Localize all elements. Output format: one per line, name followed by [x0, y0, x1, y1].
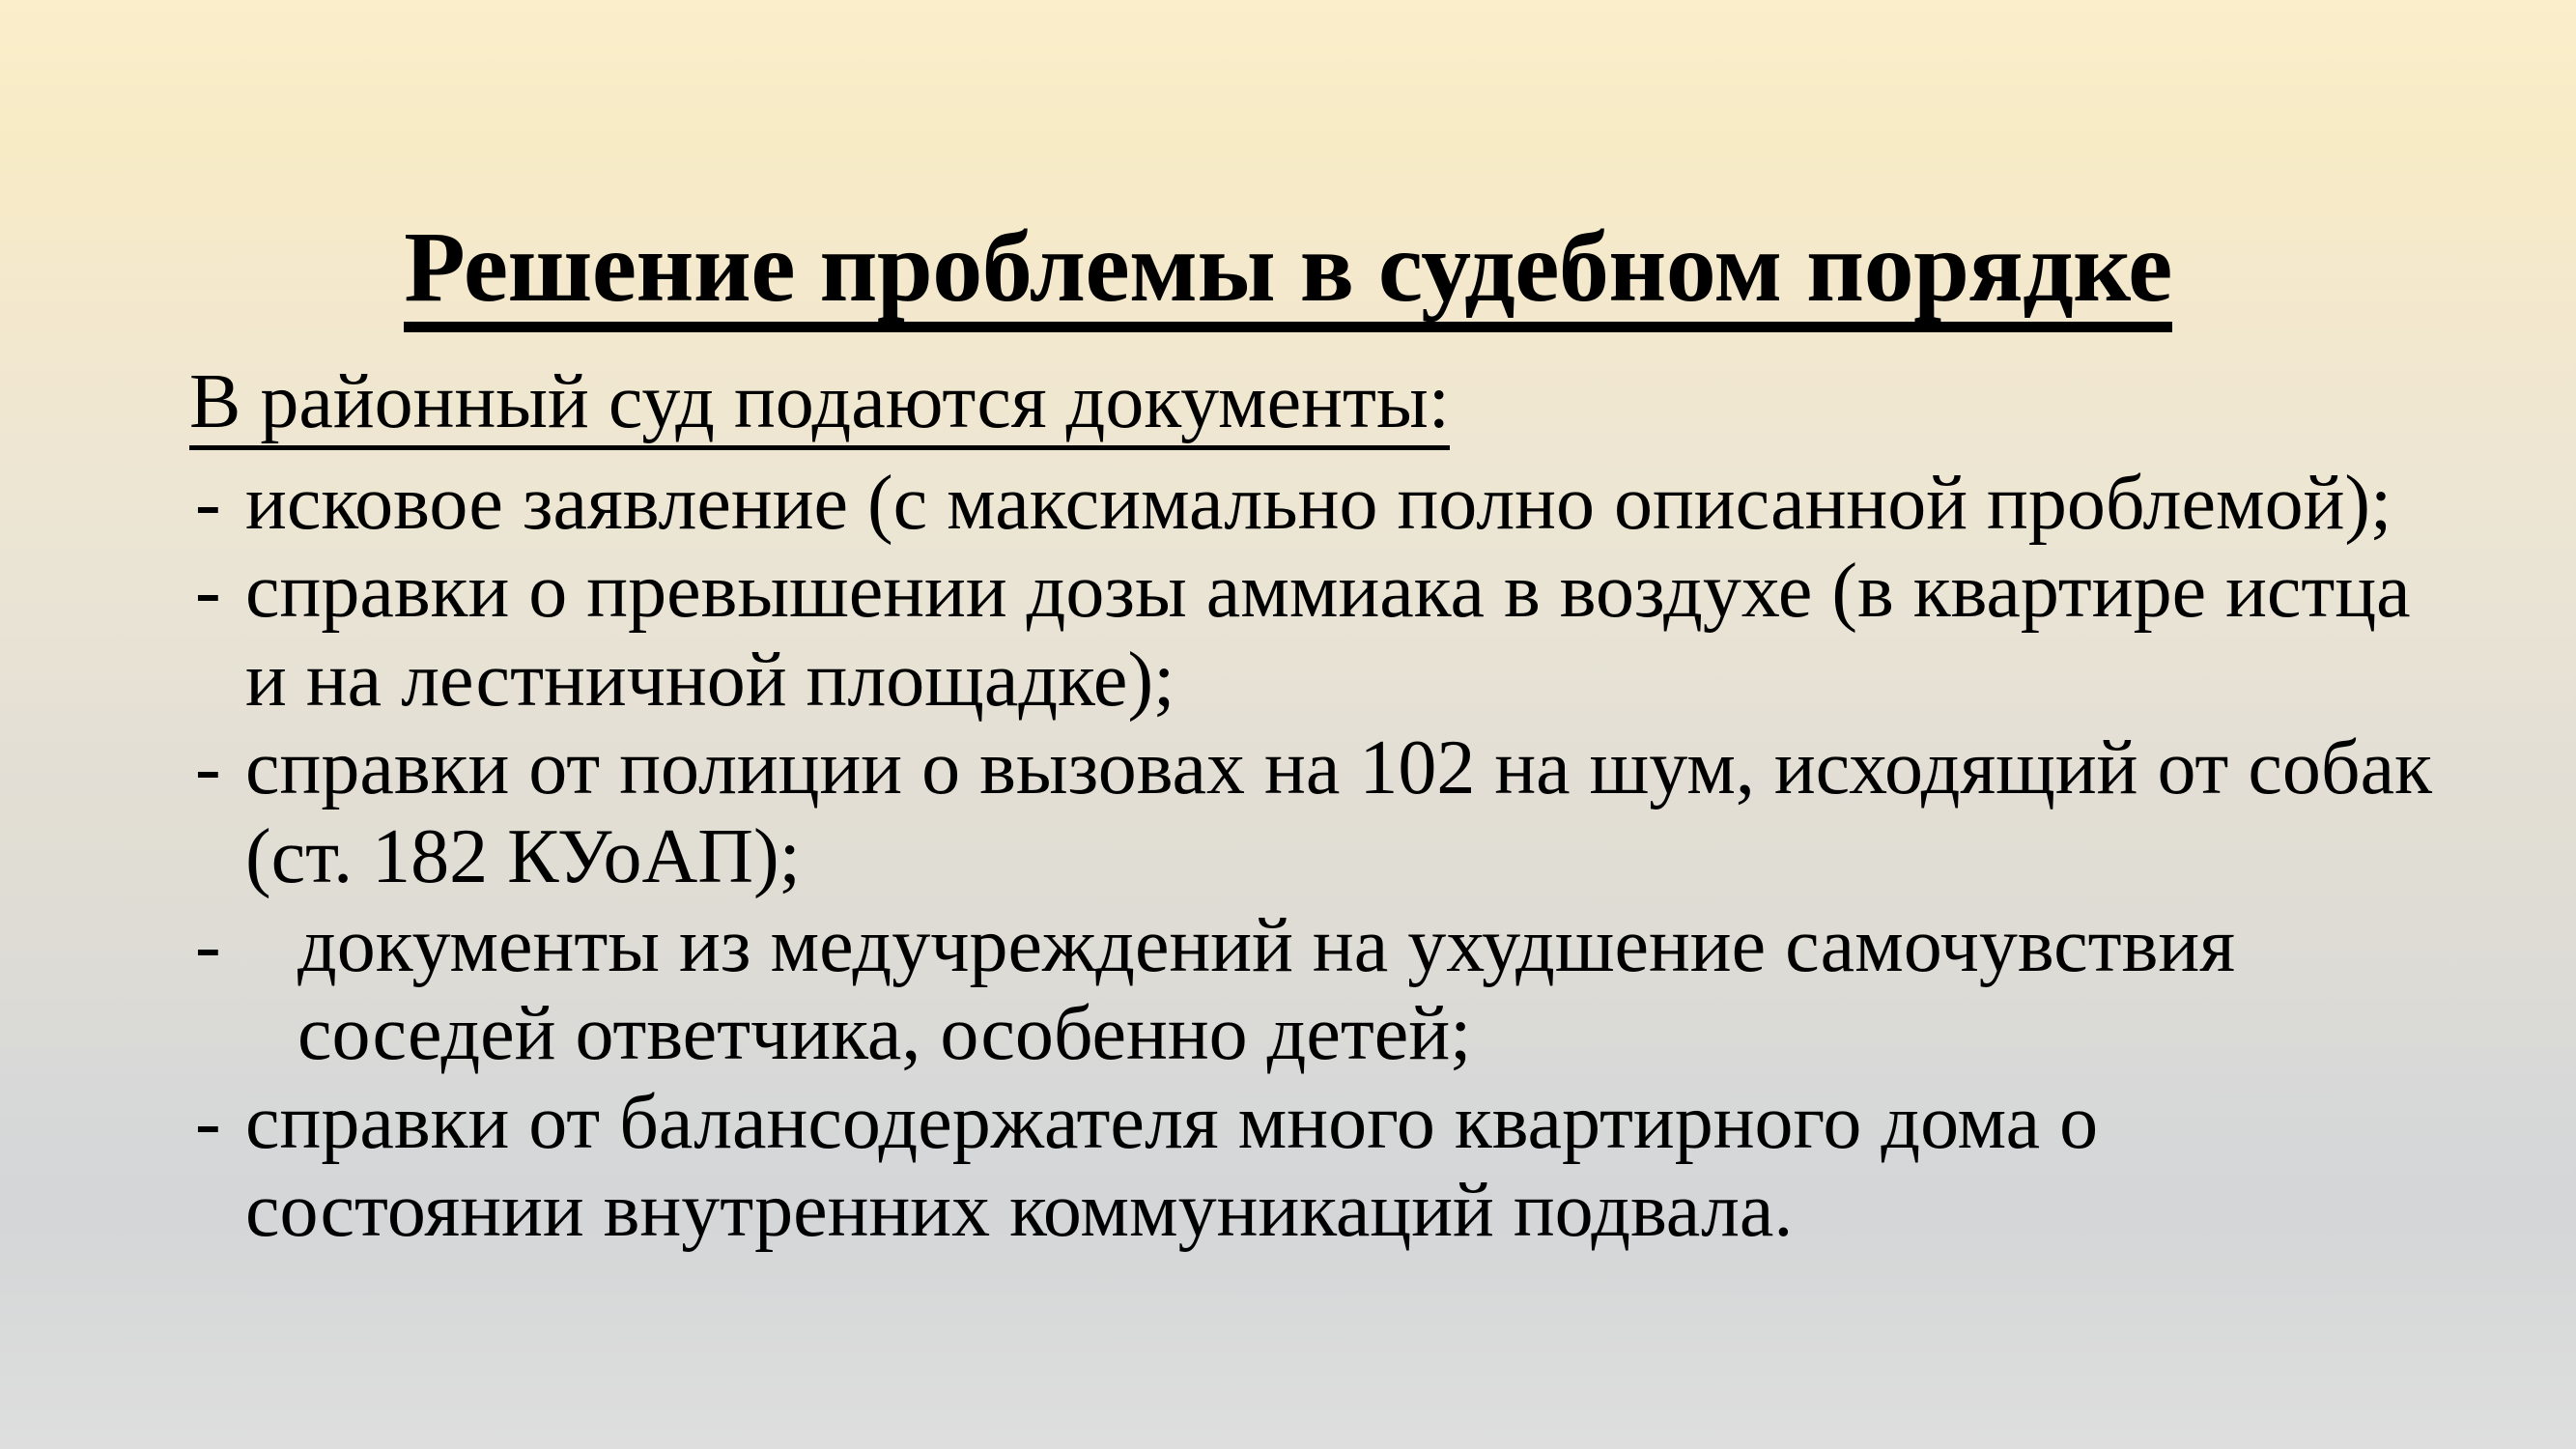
bullet-dash-icon: - — [195, 548, 221, 637]
page-title: Решение проблемы в судебном порядке — [404, 217, 2172, 332]
bullet-dash-icon: - — [195, 1079, 221, 1168]
slide-canvas: Решение проблемы в судебном порядке В ра… — [0, 0, 2576, 1449]
list-item-label: справки от балансодержателя много кварти… — [245, 1079, 2440, 1256]
list-item: - исковое заявление (с максимально полно… — [189, 460, 2440, 549]
bullet-dash-icon: - — [195, 902, 221, 991]
slide-body: В районный суд подаются документы: - иск… — [189, 359, 2440, 1256]
list-item-label: исковое заявление (с максимально полно о… — [245, 460, 2440, 549]
bullet-dash-icon: - — [195, 724, 221, 813]
list-item: - документы из медучреждений на ухудшени… — [189, 902, 2440, 1079]
list-item-label: справки о превышении дозы аммиака в возд… — [245, 548, 2440, 724]
list-item-label: справки от полиции о вызовах на 102 на ш… — [245, 724, 2440, 901]
list-item-label: документы из медучреждений на ухудшение … — [297, 902, 2440, 1079]
list-item: - справки от полиции о вызовах на 102 на… — [189, 724, 2440, 901]
list-item: - справки о превышении дозы аммиака в во… — [189, 548, 2440, 724]
document-list: - исковое заявление (с максимально полно… — [189, 460, 2440, 1256]
lead-in-line: В районный суд подаются документы: — [189, 359, 2440, 446]
list-item: - справки от балансодержателя много квар… — [189, 1079, 2440, 1256]
lead-in-text: В районный суд подаются документы: — [189, 359, 1450, 450]
bullet-dash-icon: - — [195, 460, 221, 549]
